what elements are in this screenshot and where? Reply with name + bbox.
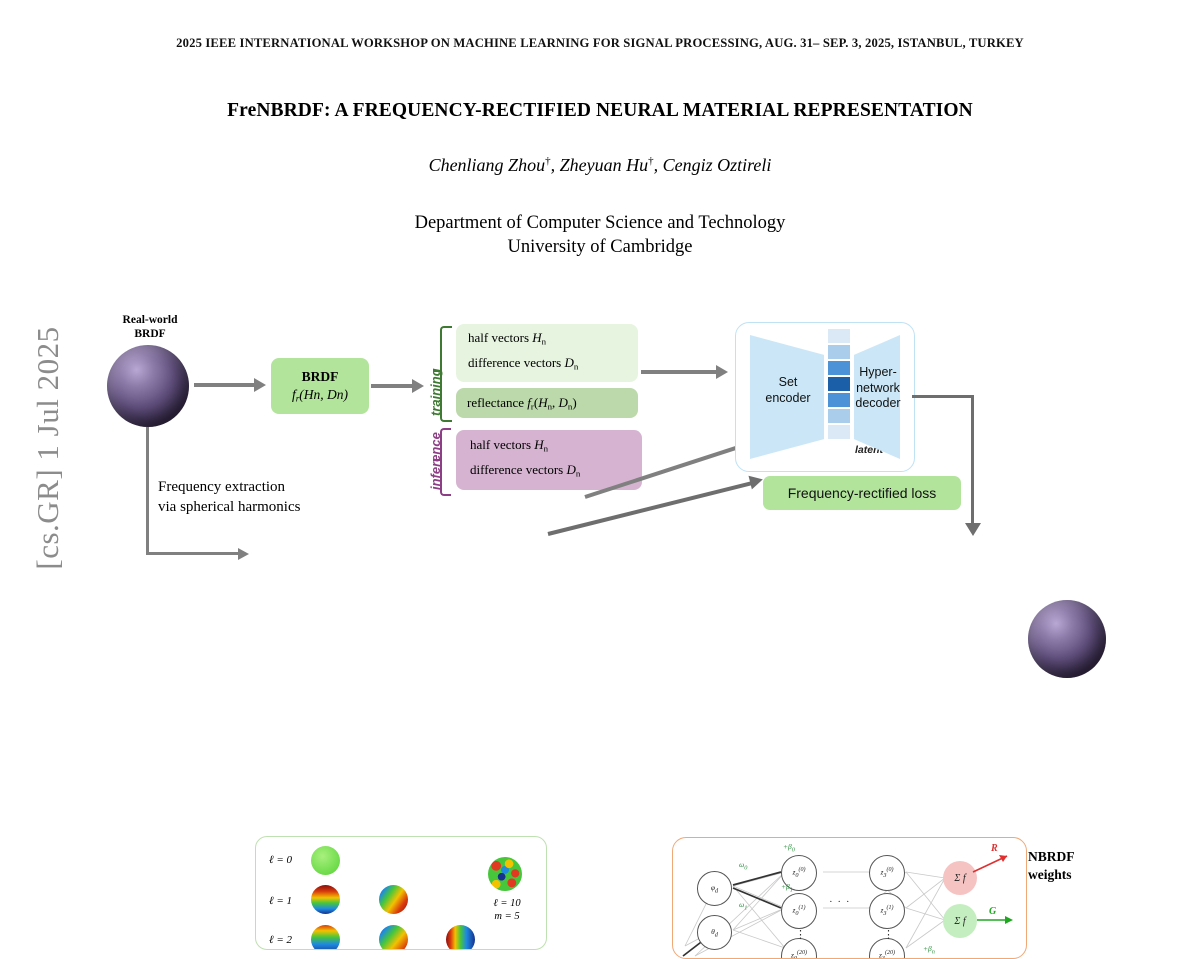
- spherical-harmonics-panel: ℓ = 0 ℓ = 1 ℓ = 2 ℓ = 10 m = 5: [255, 836, 547, 950]
- latent-cell-6: [828, 425, 850, 439]
- decoder-label-line-1: Hyper-: [850, 365, 906, 381]
- arrow-decoder-out-head: [965, 523, 981, 536]
- training-reflectance-text: reflectance fr(Hn, Dn): [467, 395, 577, 411]
- arrow-training-to-encoder: [641, 370, 719, 374]
- author-sep-1: ,: [551, 155, 560, 175]
- training-reflectance-box: reflectance fr(Hn, Dn): [456, 388, 638, 418]
- nn-output-arrows: [673, 838, 1026, 958]
- pipeline-figure: Real-world BRDF BRDF fr(Hn, Dn) Frequenc…: [0, 300, 1200, 648]
- inference-item-1: difference vectors Dn: [470, 462, 580, 478]
- latent-cell-0: [828, 329, 850, 343]
- inference-item-0: half vectors Hn: [470, 437, 548, 453]
- affiliation-line-1: Department of Computer Science and Techn…: [0, 211, 1200, 235]
- author-list: Chenliang Zhou†, Zheyuan Hu†, Cengiz Ozt…: [0, 155, 1200, 176]
- arrow-brdf-to-branch: [371, 384, 414, 388]
- sh-ball-l0-m0: [311, 846, 340, 875]
- brdf-box-title: BRDF: [302, 369, 339, 385]
- latent-cell-1: [828, 345, 850, 359]
- input-label-line-2: BRDF: [90, 327, 210, 341]
- training-label: training: [428, 368, 443, 416]
- decoder-label-line-3: decoder: [850, 396, 906, 412]
- arrow-sphere-to-brdf: [194, 383, 256, 387]
- arrow-sphere-to-brdf-head: [254, 378, 266, 392]
- inference-inputs-box: half vectors Hn difference vectors Dn: [456, 430, 642, 490]
- decoder-label-line-2: network: [850, 381, 906, 397]
- set-encoder-label-line-1: Set: [752, 375, 824, 391]
- autoencoder-card: Set encoder latent Hyper- network decode…: [735, 322, 915, 472]
- input-label-line-1: Real-world: [90, 313, 210, 327]
- author-sep-2: ,: [654, 155, 663, 175]
- training-item-0: half vectors Hn: [468, 330, 546, 346]
- training-inputs-box: half vectors Hn difference vectors Dn: [456, 324, 638, 382]
- sh-degree-label-0: ℓ = 0: [269, 854, 292, 866]
- page-title: FreNBRDF: A FREQUENCY-RECTIFIED NEURAL M…: [0, 100, 1200, 122]
- output-brdf-sphere: [1028, 600, 1106, 678]
- latent-cell-5: [828, 409, 850, 423]
- nbrdf-network-panel: φd θd z0(0) z0(1) z0(20) ⋮ z3(0) z3(1): [672, 837, 1027, 959]
- nbrdf-weights-line-1: NBRDF: [1028, 848, 1118, 866]
- freq-extract-line-2: via spherical harmonics: [158, 498, 300, 518]
- sh-ball-l1-m1: [379, 885, 408, 914]
- latent-cell-4: [828, 393, 850, 407]
- sh-ball-high-order: [488, 857, 522, 891]
- sh-degree-label-2: ℓ = 2: [269, 934, 292, 946]
- sh-highlight-label: ℓ = 10 m = 5: [485, 897, 529, 923]
- set-encoder-label: Set encoder: [752, 375, 824, 406]
- nn-output-label-g: G: [989, 906, 996, 917]
- arrow-decoder-out-h: [912, 395, 974, 398]
- nbrdf-weights-line-2: weights: [1028, 866, 1118, 884]
- brdf-box: BRDF fr(Hn, Dn): [271, 358, 369, 414]
- author-name-1: Chenliang Zhou: [429, 155, 546, 175]
- arrow-training-to-encoder-head: [716, 365, 728, 379]
- inference-label: inference: [428, 432, 443, 490]
- affiliation: Department of Computer Science and Techn…: [0, 211, 1200, 260]
- hypernetwork-decoder-label: Hyper- network decoder: [850, 365, 906, 412]
- frequency-rectified-loss-box: Frequency-rectified loss: [763, 476, 961, 510]
- input-brdf-sphere: [107, 345, 189, 427]
- arrow-decoder-out-v: [971, 395, 974, 526]
- arrow-sphere-to-sh-head: [238, 548, 249, 560]
- brdf-box-formula: fr(Hn, Dn): [292, 387, 348, 404]
- freq-extract-line-1: Frequency extraction: [158, 478, 300, 498]
- affiliation-line-2: University of Cambridge: [0, 235, 1200, 259]
- sh-degree-label-1: ℓ = 1: [269, 895, 292, 907]
- sh-ball-l2-m1: [379, 925, 408, 950]
- sh-ball-l1-m0: [311, 885, 340, 914]
- author-name-3: Cengiz Oztireli: [663, 155, 772, 175]
- frequency-extraction-caption: Frequency extraction via spherical harmo…: [158, 478, 300, 517]
- sh-ball-l2-m2: [446, 925, 475, 950]
- paper-page: [cs.GR] 1 Jul 2025 2025 IEEE INTERNATION…: [0, 0, 1200, 648]
- latent-cell-3: [828, 377, 850, 391]
- sh-ball-l2-m0: [311, 925, 340, 950]
- sh-highlight-line-2: m = 5: [485, 910, 529, 923]
- arrow-brdf-to-branch-head: [412, 379, 424, 393]
- line-sphere-down: [146, 427, 149, 555]
- nn-output-label-r: R: [991, 843, 998, 854]
- latent-cell-2: [828, 361, 850, 375]
- conference-header: 2025 IEEE INTERNATIONAL WORKSHOP ON MACH…: [0, 36, 1200, 51]
- training-item-1: difference vectors Dn: [468, 355, 578, 371]
- loss-box-label: Frequency-rectified loss: [788, 485, 937, 501]
- sh-highlight-line-1: ℓ = 10: [485, 897, 529, 910]
- input-label: Real-world BRDF: [90, 313, 210, 342]
- nbrdf-weights-label: NBRDF weights: [1028, 848, 1118, 883]
- set-encoder-label-line-2: encoder: [752, 391, 824, 407]
- line-sphere-to-sh: [146, 552, 241, 555]
- author-name-2: Zheyuan Hu: [560, 155, 649, 175]
